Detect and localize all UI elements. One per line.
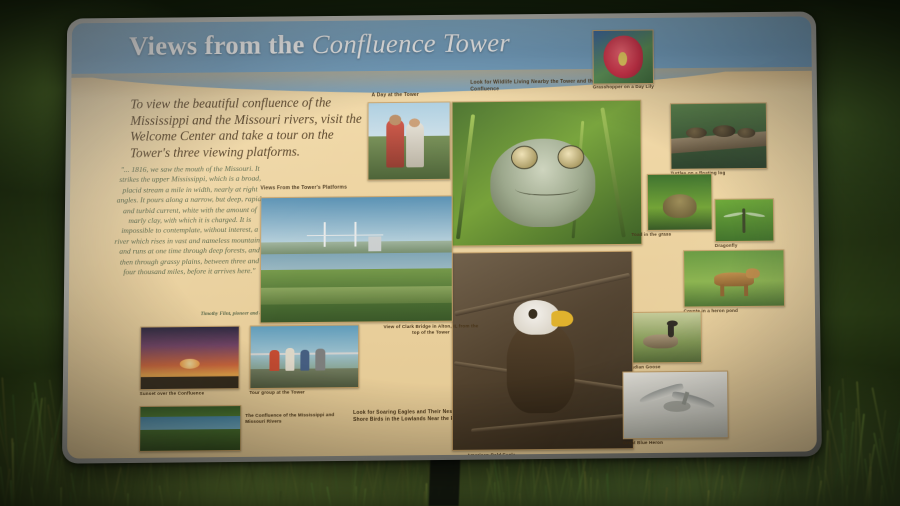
outdoor-scene: Views from the Confluence Tower To view …: [0, 0, 900, 506]
scene-vignette: [0, 0, 900, 506]
